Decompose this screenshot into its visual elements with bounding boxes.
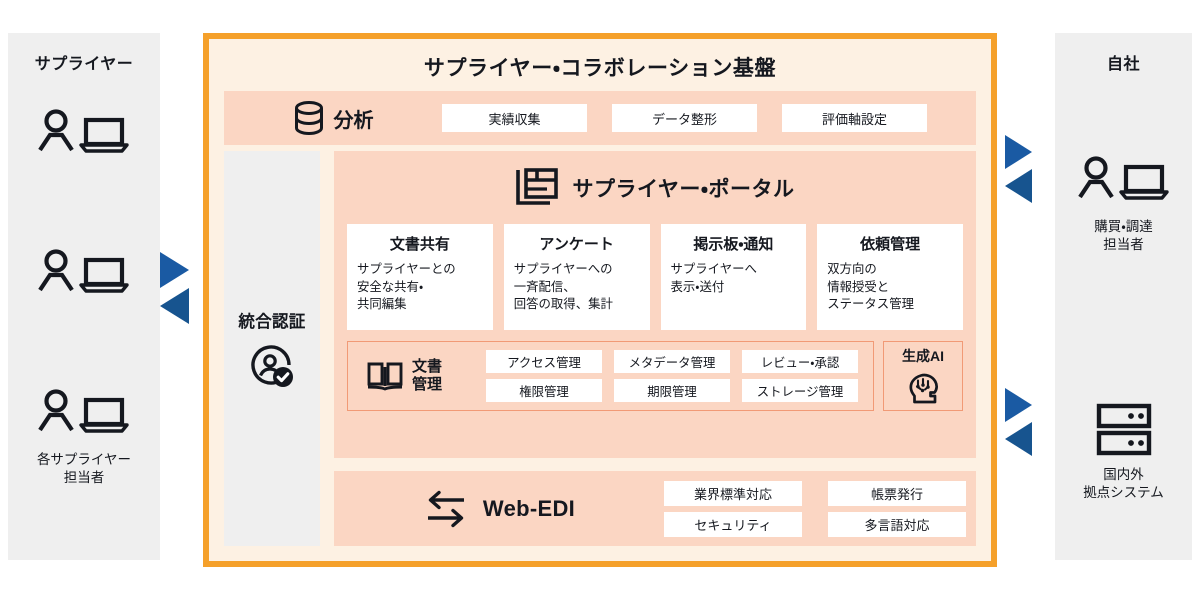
server-rack-icon [1089, 401, 1159, 459]
diagram-canvas: サプライヤー [0, 0, 1200, 599]
arrow-pair-right-bottom [1005, 388, 1045, 456]
person-laptop-icon [36, 248, 132, 304]
triangle-right-icon [1005, 135, 1032, 169]
portal-card-body: 双方向の情報授受とステータス管理 [827, 261, 953, 314]
analytics-section: 分析 実績収集 データ整形 評価軸設定 [224, 91, 976, 145]
document-management-header: 文書管理 [356, 358, 474, 394]
person-laptop-icon [36, 388, 132, 444]
exchange-arrows-icon [423, 487, 469, 531]
triangle-left-icon [1005, 422, 1032, 456]
webedi-header: Web-EDI [334, 487, 664, 531]
analytics-chip[interactable]: 実績収集 [442, 104, 587, 132]
person-laptop-icon [1076, 155, 1172, 211]
database-icon [293, 100, 325, 136]
actor-caption: 国内外拠点システム [1083, 466, 1164, 502]
analytics-label: 分析 [334, 104, 374, 133]
actor-supplier-2 [8, 248, 160, 311]
sso-label: 統合認証 [238, 308, 305, 332]
webedi-chip[interactable]: 多言語対応 [828, 512, 966, 537]
portal-header: サプライヤー・ポータル [334, 151, 976, 224]
actor-procurement: 購買・調達担当者 [1055, 155, 1192, 254]
triangle-right-icon [160, 252, 189, 288]
triangle-left-icon [1005, 169, 1032, 203]
portal-section: サプライヤー・ポータル 文書共有 サプライヤーとの安全な共有・共同編集 アンケー… [334, 151, 976, 458]
portal-card[interactable]: 掲示板・通知 サプライヤーへ表示・送付 [661, 224, 807, 330]
document-management-label: 文書管理 [412, 358, 442, 394]
portal-card[interactable]: 依頼管理 双方向の情報授受とステータス管理 [817, 224, 963, 330]
verified-user-icon [249, 344, 295, 390]
person-laptop-icon [36, 108, 132, 164]
actor-supplier-3: 各サプライヤー担当者 [8, 388, 160, 487]
webedi-chip[interactable]: 業界標準対応 [664, 481, 802, 506]
actor-supplier-1 [8, 108, 160, 171]
portal-card-title: 掲示板・通知 [671, 233, 797, 254]
webedi-label: Web-EDI [483, 496, 575, 522]
portal-card-title: 依頼管理 [827, 233, 953, 254]
open-book-icon [366, 360, 404, 392]
left-panel-title: サプライヤー [35, 50, 134, 74]
docmgmt-chip[interactable]: 期限管理 [614, 379, 730, 402]
sso-section: 統合認証 [224, 151, 320, 546]
analytics-chip[interactable]: 評価軸設定 [782, 104, 927, 132]
platform-frame: サプライヤー・コラボレーション基盤 分析 実績収集 データ整形 評価軸設定 [203, 33, 997, 567]
document-management-chip-grid: アクセス管理 メタデータ管理 レビュー・承認 権限管理 期限管理 ストレージ管理 [486, 350, 858, 402]
document-management-section: 文書管理 アクセス管理 メタデータ管理 レビュー・承認 権限管理 期限管理 スト… [347, 341, 874, 411]
portal-card-body: サプライヤーへの一斉配信、回答の取得、集計 [514, 261, 640, 314]
docmgmt-chip[interactable]: ストレージ管理 [742, 379, 858, 402]
webedi-chip-grid: 業界標準対応 帳票発行 セキュリティ 多言語対応 [664, 481, 966, 537]
analytics-chip[interactable]: データ整形 [612, 104, 757, 132]
generative-ai-section[interactable]: 生成AI [883, 341, 963, 411]
docmgmt-chip[interactable]: アクセス管理 [486, 350, 602, 373]
actor-caption: 購買・調達担当者 [1094, 218, 1153, 254]
docmgmt-chip[interactable]: 権限管理 [486, 379, 602, 402]
docmgmt-chip[interactable]: レビュー・承認 [742, 350, 858, 373]
platform-title: サプライヤー・コラボレーション基盤 [209, 39, 991, 91]
portal-title: サプライヤー・ポータル [572, 173, 794, 203]
ai-brain-head-icon [904, 369, 942, 407]
actor-site-systems: 国内外拠点システム [1055, 401, 1192, 502]
right-panel-title: 自社 [1107, 50, 1140, 74]
portal-card-list: 文書共有 サプライヤーとの安全な共有・共同編集 アンケート サプライヤーへの一斉… [334, 224, 976, 330]
analytics-header: 分析 [224, 100, 442, 136]
generative-ai-label: 生成AI [902, 346, 944, 366]
portal-card-body: サプライヤーへ表示・送付 [671, 261, 797, 296]
portal-card[interactable]: アンケート サプライヤーへの一斉配信、回答の取得、集計 [504, 224, 650, 330]
arrow-pair-right-top [1005, 135, 1045, 203]
window-layout-icon [515, 167, 559, 209]
webedi-section: Web-EDI 業界標準対応 帳票発行 セキュリティ 多言語対応 [334, 471, 976, 546]
triangle-right-icon [1005, 388, 1032, 422]
docmgmt-chip[interactable]: メタデータ管理 [614, 350, 730, 373]
portal-card-title: アンケート [514, 233, 640, 254]
document-management-row: 文書管理 アクセス管理 メタデータ管理 レビュー・承認 権限管理 期限管理 スト… [334, 330, 976, 411]
portal-card-body: サプライヤーとの安全な共有・共同編集 [357, 261, 483, 314]
left-actor-panel: サプライヤー [8, 33, 160, 560]
webedi-chip[interactable]: セキュリティ [664, 512, 802, 537]
actor-caption: 各サプライヤー担当者 [37, 451, 131, 487]
arrow-pair-left [160, 252, 200, 324]
analytics-chip-list: 実績収集 データ整形 評価軸設定 [442, 104, 927, 132]
portal-card-title: 文書共有 [357, 233, 483, 254]
portal-card[interactable]: 文書共有 サプライヤーとの安全な共有・共同編集 [347, 224, 493, 330]
triangle-left-icon [160, 288, 189, 324]
right-actor-panel: 自社 購買・調達担当者 [1055, 33, 1192, 560]
webedi-chip[interactable]: 帳票発行 [828, 481, 966, 506]
